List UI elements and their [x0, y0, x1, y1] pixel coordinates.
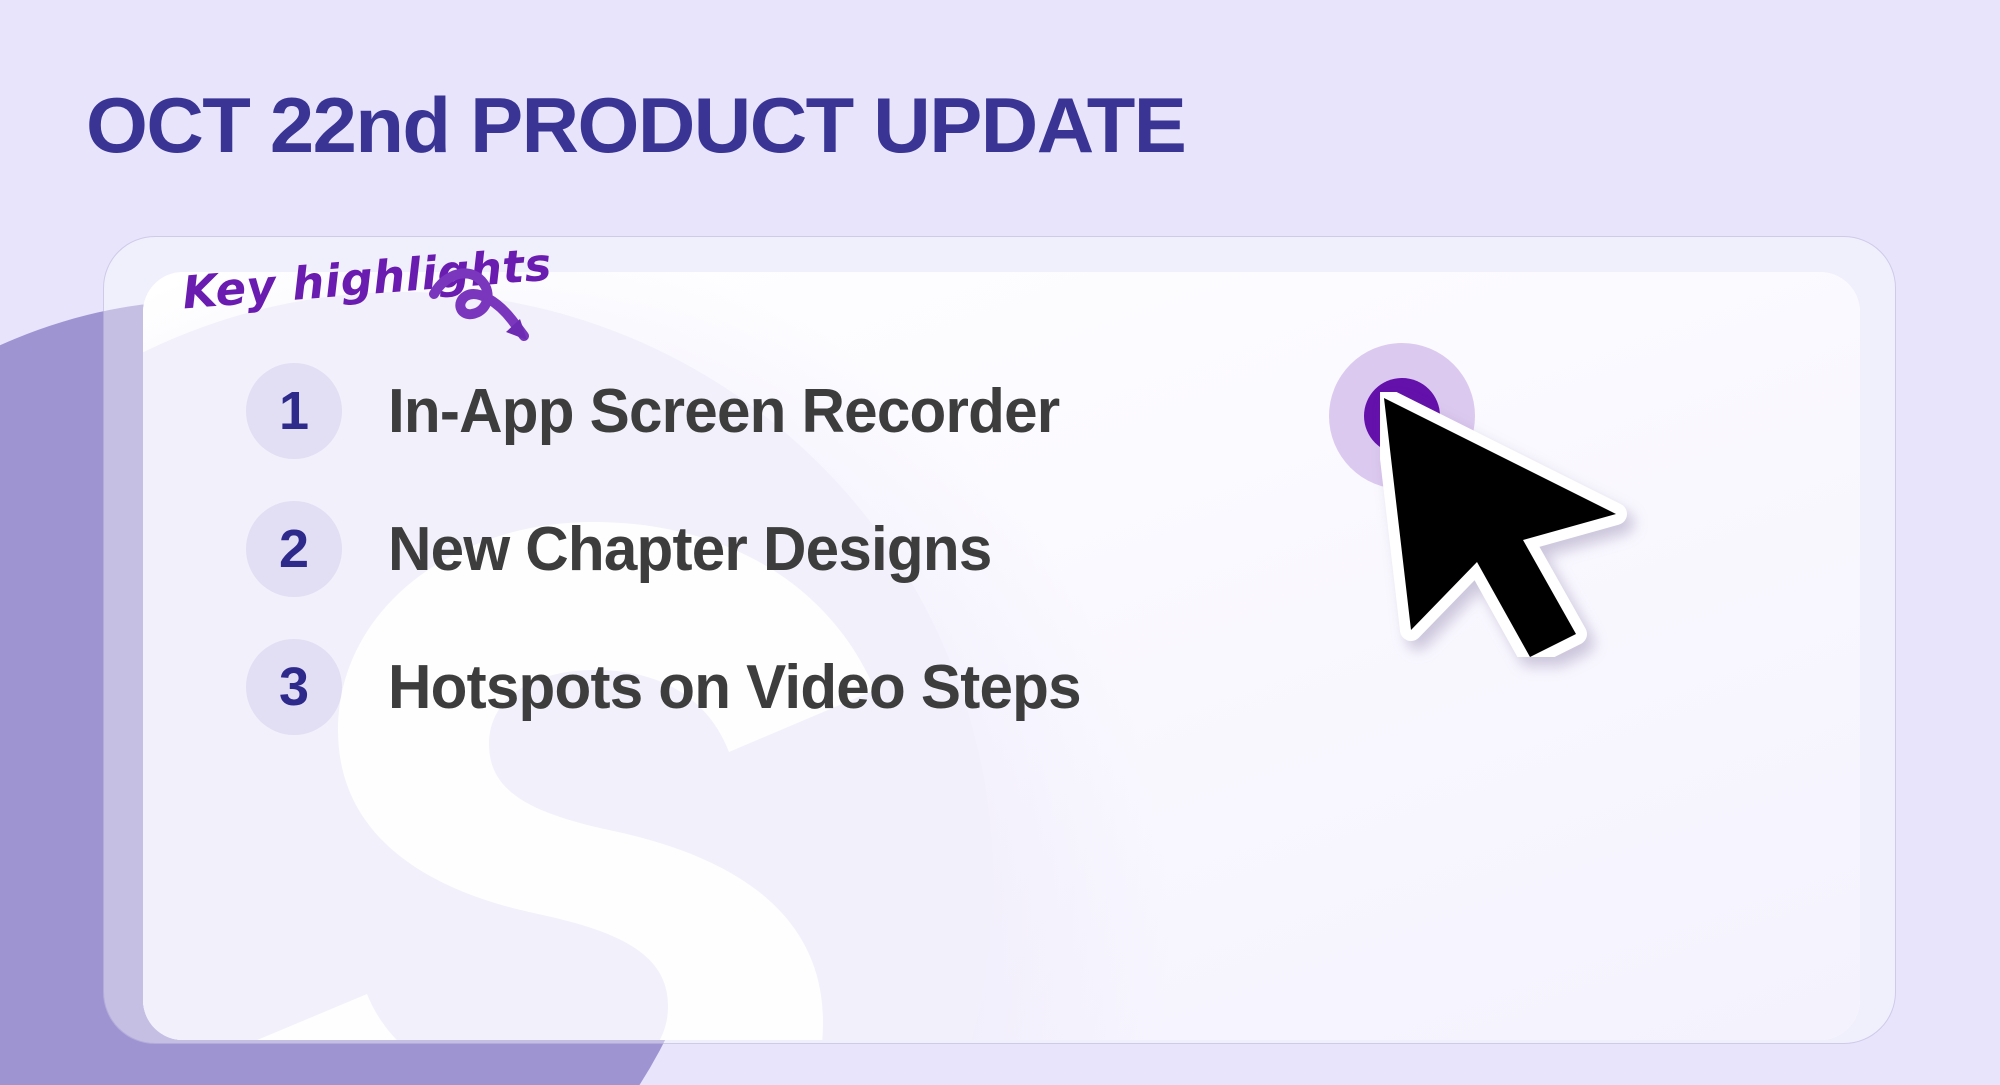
list-item[interactable]: 1 In-App Screen Recorder [246, 342, 1446, 480]
curly-arrow-icon [428, 258, 548, 353]
list-item-number-badge: 2 [246, 501, 342, 597]
list-item[interactable]: 2 New Chapter Designs [246, 480, 1446, 618]
list-item-label: In-App Screen Recorder [388, 376, 1059, 447]
list-item[interactable]: 3 Hotspots on Video Steps [246, 618, 1446, 756]
mouse-pointer-icon [1380, 392, 1630, 657]
page-title: OCT 22nd PRODUCT UPDATE [86, 82, 1185, 168]
highlights-list: 1 In-App Screen Recorder 2 New Chapter D… [246, 342, 1446, 756]
list-item-label: New Chapter Designs [388, 514, 992, 585]
list-item-number-badge: 3 [246, 639, 342, 735]
list-item-label: Hotspots on Video Steps [388, 652, 1081, 723]
list-item-number-badge: 1 [246, 363, 342, 459]
